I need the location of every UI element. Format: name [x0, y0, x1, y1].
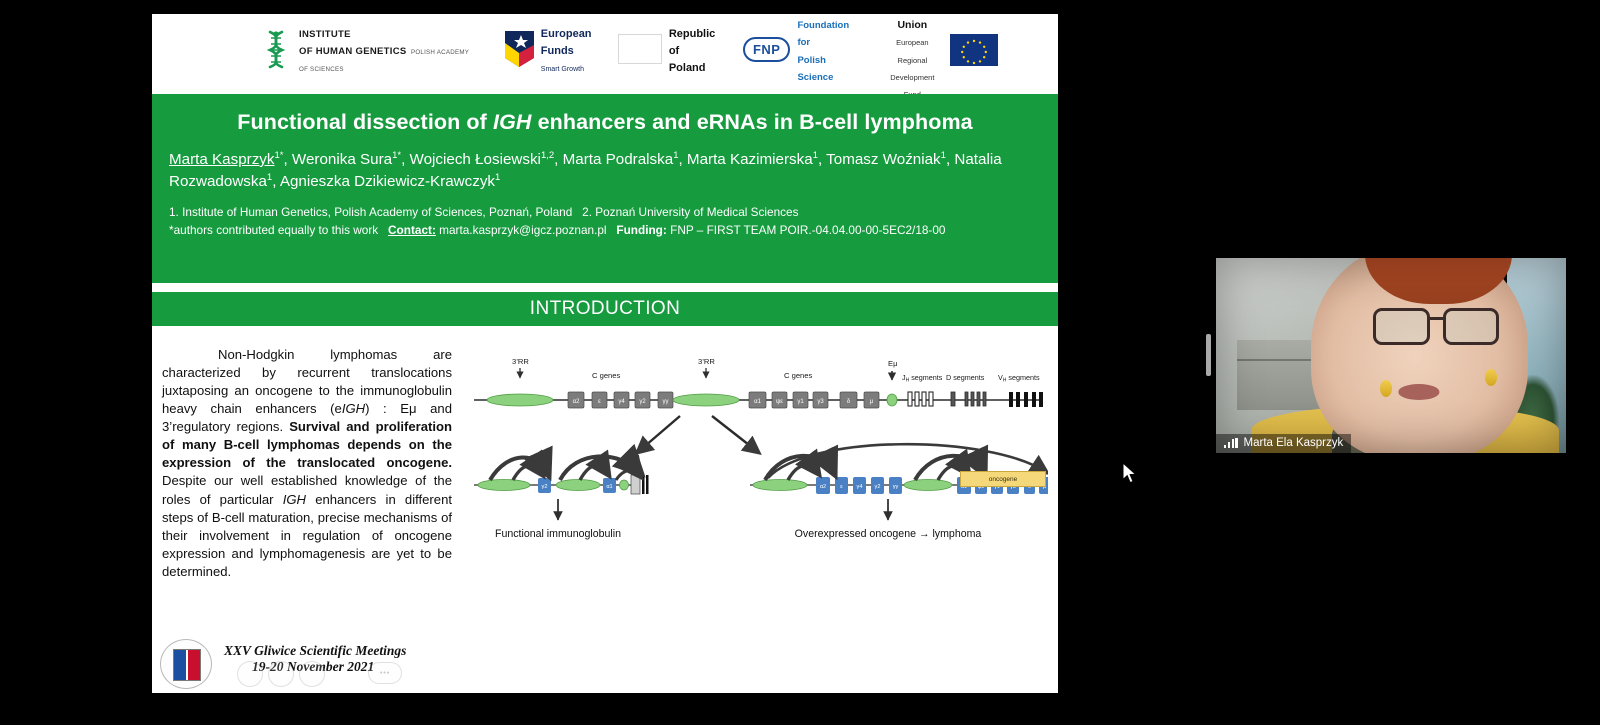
eu-line-1: European Union	[888, 14, 936, 31]
equal-contribution-note: *authors contributed equally to this wor…	[169, 223, 378, 237]
mouse-pointer	[1122, 462, 1140, 486]
more-options-button[interactable]: •••	[368, 662, 402, 684]
svg-text:Eμ: Eμ	[888, 359, 897, 368]
title-part-1: Functional dissection of	[237, 110, 493, 134]
funding-label: Funding:	[616, 223, 666, 237]
eu-funds-line-2: Funds	[541, 45, 574, 57]
svg-text:D segments: D segments	[946, 373, 985, 382]
contact-label: Contact:	[388, 223, 436, 237]
conference-name: XXV Gliwice Scientific Meetings	[224, 643, 406, 659]
funding-grant-id: FNP – FIRST TEAM POIR.-04.04.00-00-5EC2/…	[670, 223, 945, 237]
svg-text:γ2: γ2	[542, 484, 548, 490]
contact-email[interactable]: marta.kasprzyk@igcz.poznan.pl	[439, 223, 606, 237]
intro-italic-igh-1: IGH	[342, 401, 365, 416]
author-marta-kasprzyk: Marta Kasprzyk	[169, 151, 275, 168]
european-funds-logo: European Funds Smart Growth	[505, 24, 592, 76]
svg-text:γ1: γ1	[797, 399, 804, 405]
contact-funding-line: *authors contributed equally to this wor…	[169, 222, 1049, 240]
fnp-oval-icon: FNP	[743, 37, 790, 62]
intro-italic-igh-2: IGH	[283, 492, 306, 507]
author-tomasz-wozniak: , Tomasz Woźniak	[818, 151, 941, 168]
figure-left-panel: γ2 α1 Functional imm	[474, 456, 649, 540]
poland-flag-icon	[618, 34, 662, 64]
svg-text:γ2: γ2	[639, 399, 646, 405]
svg-text:ψε: ψε	[776, 399, 783, 405]
affiliations-line: 1. Institute of Human Genetics, Polish A…	[169, 204, 1049, 222]
foundation-for-polish-science-logo: FNP Foundation for Polish Science	[743, 15, 856, 84]
author-list: Marta Kasprzyk1*, Weronika Sura1*, Wojci…	[161, 149, 1049, 192]
video-panel-drag-handle[interactable]	[1206, 334, 1211, 376]
poster-title-band: Functional dissection of IGH enhancers a…	[152, 94, 1058, 283]
affiliations-block: 1. Institute of Human Genetics, Polish A…	[161, 192, 1049, 239]
svg-text:α2: α2	[573, 399, 580, 405]
participant-webcam-image	[1216, 258, 1566, 453]
poland-line-2: of Poland	[669, 45, 706, 74]
svg-text:ε: ε	[598, 399, 601, 405]
republic-of-poland-logo: Republic of Poland	[618, 24, 717, 76]
section-header-introduction: INTRODUCTION	[152, 292, 1058, 326]
igh-locus-translocation-diagram: 3’RR C genes α2ε	[468, 354, 1048, 554]
svg-text:μ: μ	[870, 399, 874, 405]
title-italic-igh: IGH	[493, 110, 532, 134]
ihg-line-1: INSTITUTE	[299, 29, 351, 40]
svg-text:γ2: γ2	[875, 484, 881, 490]
svg-text:α2: α2	[820, 484, 826, 490]
european-union-logo: European Union European Regional Develop…	[882, 14, 998, 101]
figure-right-panel: α2ε γ4γ2γγ α1ψε	[750, 444, 1048, 540]
figure-top-track: 3’RR C genes α2ε	[474, 357, 1043, 408]
svg-text:3’RR: 3’RR	[512, 357, 529, 366]
play-button[interactable]	[237, 661, 263, 687]
author-marta-kazimierska: , Marta Kazimierska	[678, 151, 812, 168]
institute-of-human-genetics-logo: INSTITUTE OF HUMAN GENETICS POLISH ACADE…	[262, 24, 479, 76]
author-wojciech-losiewski: , Wojciech Łosiewski	[401, 151, 541, 168]
title-part-2: enhancers and eRNAs in B-cell lymphoma	[532, 110, 973, 134]
audio-level-icon	[1224, 438, 1238, 448]
author-marta-podralska: , Marta Podralska	[554, 151, 673, 168]
author-sup-2: 1,2	[541, 150, 554, 161]
affiliation-2: 2. Poznań University of Medical Sciences	[582, 205, 798, 219]
svg-text:γ4: γ4	[857, 484, 863, 490]
figure-split-arrows	[638, 416, 758, 452]
eu-flag-icon	[950, 34, 998, 66]
gliwice-crest-icon	[160, 639, 212, 689]
svg-text:C genes: C genes	[784, 371, 812, 380]
eu-line-2: European Regional	[896, 38, 929, 64]
svg-text:α1: α1	[606, 484, 612, 490]
author-weronika-sura: , Weronika Sura	[283, 151, 392, 168]
eu-funds-line-1: European	[541, 28, 592, 40]
page-title: Functional dissection of IGH enhancers a…	[161, 110, 1049, 135]
svg-text:α1: α1	[754, 399, 761, 405]
author-agnieszka-dzikiewicz-krawczyk: , Agnieszka Dzikiewicz-Krawczyk	[272, 173, 495, 190]
affiliation-1: 1. Institute of Human Genetics, Polish A…	[169, 205, 572, 219]
participant-name-bar: Marta Ela Kasprzyk	[1216, 434, 1351, 453]
svg-text:γγ: γγ	[663, 399, 669, 405]
svg-text:γ4: γ4	[618, 399, 625, 405]
author-sup-1: 1*	[392, 150, 401, 161]
section-header-label: INTRODUCTION	[530, 298, 680, 320]
svg-text:γ3: γ3	[817, 399, 824, 405]
oncogene-box: oncogene	[960, 471, 1046, 487]
next-button[interactable]	[299, 661, 325, 687]
poland-line-1: Republic	[669, 28, 715, 40]
dna-helix-icon	[262, 29, 292, 69]
svg-text:C genes: C genes	[592, 371, 620, 380]
slide-footer: XXV Gliwice Scientific Meetings 19-20 No…	[152, 635, 1058, 693]
fnp-line-2: Polish Science	[797, 55, 833, 83]
sponsor-logo-bar: INSTITUTE OF HUMAN GENETICS POLISH ACADE…	[152, 14, 1058, 85]
svg-text:VH segments: VH segments	[998, 373, 1040, 384]
shared-presentation-slide[interactable]: INSTITUTE OF HUMAN GENETICS POLISH ACADE…	[152, 14, 1058, 693]
ihg-line-2: OF HUMAN GENETICS	[299, 46, 407, 57]
author-sup-7: 1	[495, 172, 500, 183]
participant-video-tile[interactable]: Marta Ela Kasprzyk	[1216, 258, 1566, 453]
eu-funds-line-3: Smart Growth	[541, 66, 584, 73]
svg-text:γγ: γγ	[893, 484, 899, 490]
slide-body: Non-Hodgkin lymphomas are characterized …	[152, 326, 1058, 656]
svg-text:3’RR: 3’RR	[698, 357, 715, 366]
participant-name: Marta Ela Kasprzyk	[1244, 437, 1344, 449]
left-panel-caption: Functional immunoglobulin	[495, 528, 621, 540]
svg-text:JH segments: JH segments	[902, 373, 943, 384]
eu-funds-flag-icon	[505, 31, 534, 67]
fnp-line-1: Foundation for	[797, 20, 849, 48]
previous-button[interactable]	[268, 661, 294, 687]
screen-root: INSTITUTE OF HUMAN GENETICS POLISH ACADE…	[0, 0, 1600, 725]
right-panel-caption: Overexpressed oncogene → lymphoma	[795, 528, 982, 540]
introduction-paragraph: Non-Hodgkin lymphomas are characterized …	[162, 346, 452, 581]
